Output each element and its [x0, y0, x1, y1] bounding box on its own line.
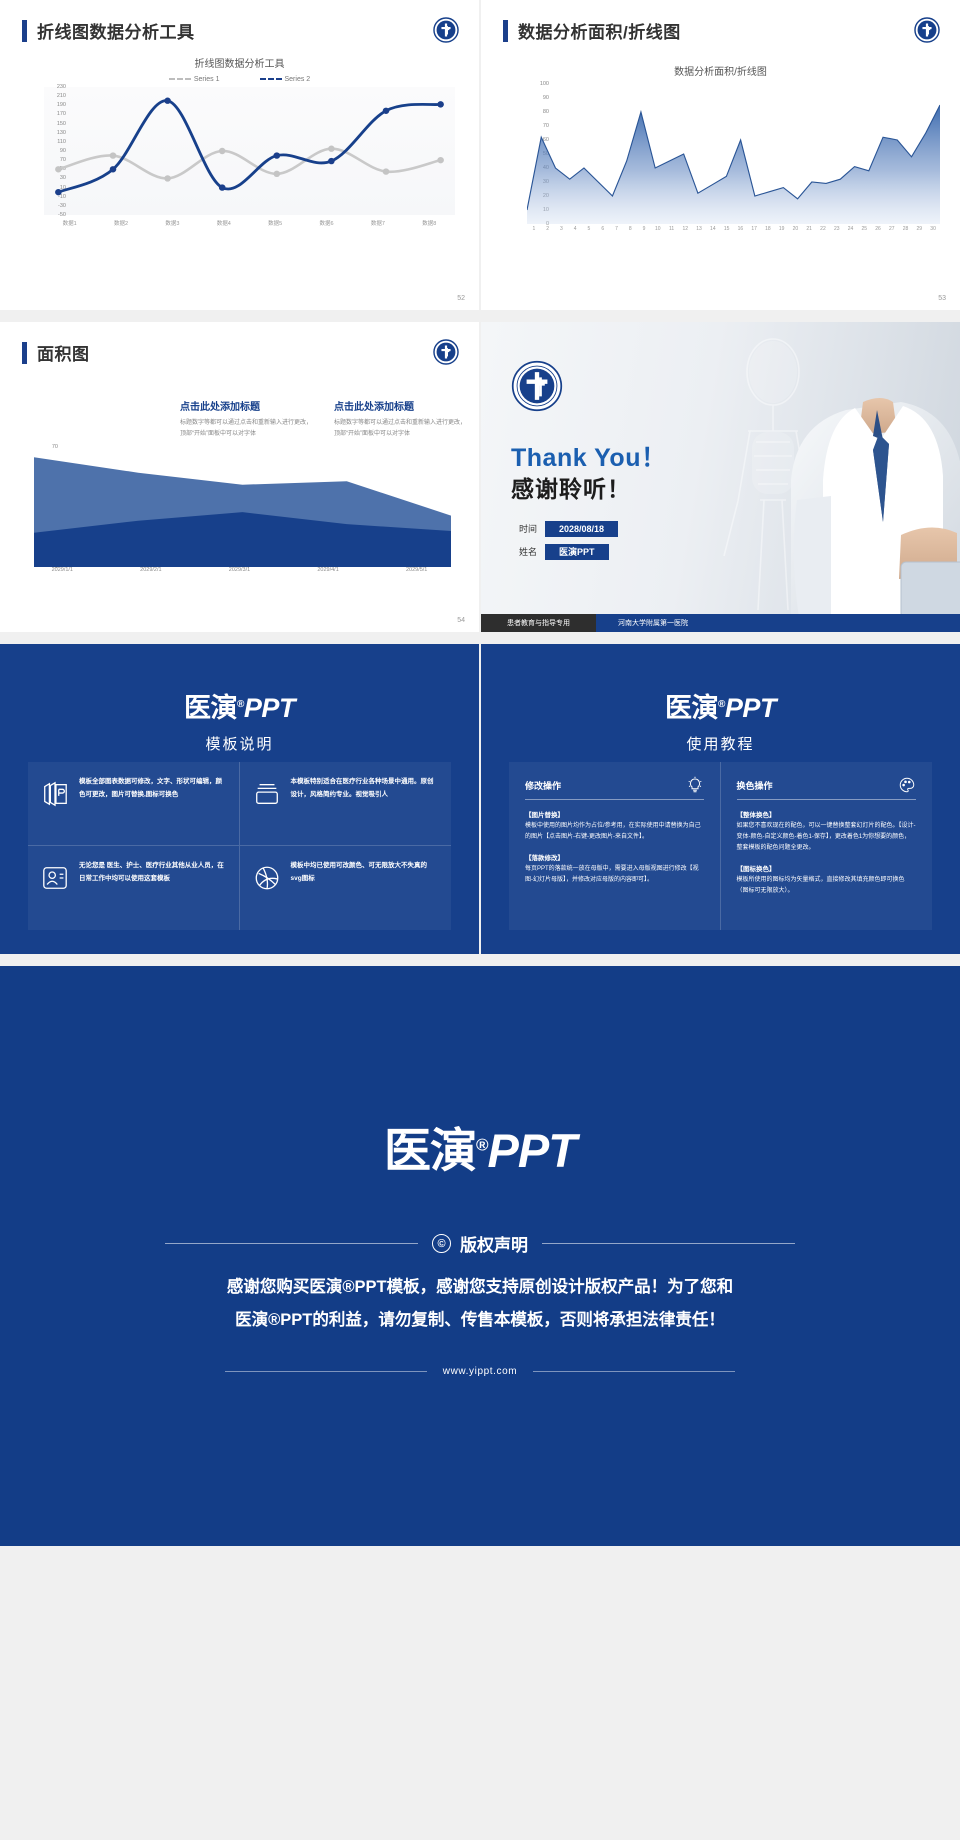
tutorial-column-header: 修改操作 [525, 776, 704, 800]
field-label: 姓名 [511, 544, 545, 560]
hospital-emblem-icon [914, 17, 940, 43]
brand-registered-mark: ® [718, 699, 725, 710]
tutorial-column-header: 换色操作 [737, 776, 917, 800]
area-chart-region: 数据分析面积/折线图 1009080706050403020100 [481, 43, 960, 232]
slide-template-info[interactable]: 医演®PPT 模板说明 模板全部图表数据可修改，文字、形状可编辑，颜色可更改，图… [0, 644, 479, 954]
x-tick-label: 17 [747, 224, 761, 232]
stacked-area-plot: 706050403020100 [34, 447, 451, 567]
chart-legend: Series 1 Series 2 [20, 76, 459, 83]
hospital-emblem-icon [433, 339, 459, 365]
data-point [328, 146, 335, 152]
box-icon [253, 780, 281, 808]
x-tick-label: 29 [912, 224, 926, 232]
hospital-emblem-icon [511, 360, 563, 412]
note-title: 点击此处添加标题 [334, 398, 470, 413]
copyright-heading-group: © 版权声明 [432, 1231, 528, 1256]
tutorial-column-title: 修改操作 [525, 779, 561, 792]
x-tick-label: 28 [899, 224, 913, 232]
info-card: 本模板特别适合在医疗行业各种场景中通用。原创设计，风格简约专业。视觉吸引人 [240, 762, 452, 846]
copyright-heading: 版权声明 [460, 1231, 528, 1256]
vector-icon [253, 864, 281, 892]
brand-lockup: 医演®PPT 使用教程 [481, 644, 960, 754]
slide-header: 折线图数据分析工具 [0, 0, 479, 43]
data-point [110, 166, 117, 172]
x-tick-label: 26 [871, 224, 885, 232]
note-body: 标题数字等都可以通过点击和重新输入进行更改，顶部“开始”面板中可以对字体 [334, 418, 470, 439]
x-tick-label: 数据6 [301, 215, 352, 227]
brand-en: PPT [488, 1124, 576, 1177]
footer-brand-logo: 医演®PPT [0, 1112, 960, 1181]
x-tick-label: 1 [527, 224, 541, 232]
doctor-photo [751, 330, 960, 630]
x-axis: 2029/1/12029/2/12029/3/12029/4/12029/5/1 [18, 567, 461, 573]
stacked-area-svg [34, 447, 451, 567]
info-card-text: 模板全部图表数据可修改，文字、形状可编辑，颜色可更改，图片可替换,图标可换色 [79, 776, 226, 801]
copyright-icon: © [432, 1234, 451, 1253]
tutorial-column-recolor: 换色操作 【整体换色】 如果您不喜欢现在的配色，可以一键替换整套幻灯片的配色。【… [721, 762, 933, 930]
tutorial-block: 【图标换色】 模板所使用的图标均为矢量格式，直接修改其填充颜色即可换色（图标可无… [737, 863, 917, 897]
divider-line-left [165, 1243, 418, 1244]
legend-item-series-2: Series 2 [260, 76, 311, 83]
copyright-line-2: 医演®PPT的利益，请勿复制、传售本模板，否则将承担法律责任！ [130, 1304, 830, 1337]
x-tick-label: 数据3 [147, 215, 198, 227]
line-chart-region: 折线图数据分析工具 Series 1 Series 2 230210190170… [0, 43, 479, 227]
data-point [110, 152, 117, 158]
area-chart-svg [527, 84, 940, 224]
data-point [219, 184, 226, 190]
legend-item-series-1: Series 1 [169, 76, 220, 83]
x-tick-label: 数据2 [95, 215, 146, 227]
x-tick-label: 8 [623, 224, 637, 232]
data-point [219, 148, 226, 154]
legend-label: Series 1 [194, 76, 220, 83]
website-url[interactable]: www.yippt.com [443, 1366, 518, 1377]
copyright-slide[interactable]: 医演®PPT © 版权声明 感谢您购买医演®PPT模板，感谢您支持原创设计版权产… [0, 966, 960, 1546]
brand-logo: 医演®PPT [0, 686, 479, 725]
slide-title: 数据分析面积/折线图 [518, 18, 681, 43]
brand-registered-mark: ® [237, 699, 244, 710]
brand-subtitle: 使用教程 [481, 733, 960, 754]
brand-zh: 医演 [665, 693, 718, 723]
page-number: 52 [457, 295, 465, 302]
info-card-grid: 模板全部图表数据可修改，文字、形状可编辑，颜色可更改，图片可替换,图标可换色 本… [28, 762, 451, 930]
slide-area-chart[interactable]: 面积图 点击此处添加标题 标题数字等都可以通过点击和重新输入进行更改，顶部“开始… [0, 322, 479, 632]
brand-en: PPT [725, 693, 776, 723]
copyright-body: 感谢您购买医演®PPT模板，感谢您支持原创设计版权产品！为了您和 医演®PPT的… [130, 1271, 830, 1337]
divider-line-right [542, 1243, 795, 1244]
x-tick-label: 7 [610, 224, 624, 232]
info-card-text: 无论您是 医生、护士、医疗行业其他从业人员，在日常工作中均可以使用这套模板 [79, 860, 226, 885]
data-point [55, 166, 62, 172]
x-tick-label: 2029/1/1 [18, 567, 107, 573]
x-tick-label: 9 [637, 224, 651, 232]
accent-bar [503, 20, 508, 42]
info-card: 模板全部图表数据可修改，文字、形状可编辑，颜色可更改，图片可替换,图标可换色 [28, 762, 240, 846]
note-title: 点击此处添加标题 [180, 398, 316, 413]
field-name: 姓名 医演PPT [511, 544, 609, 560]
data-point [437, 157, 444, 163]
legend-swatch [260, 78, 282, 80]
slide-row-3: 医演®PPT 模板说明 模板全部图表数据可修改，文字、形状可编辑，颜色可更改，图… [0, 644, 960, 954]
url-line-left [225, 1371, 427, 1372]
accent-bar [22, 20, 27, 42]
accent-bar [22, 342, 27, 364]
slide-thank-you[interactable]: Thank You！ 感谢聆听！ 时间 2028/08/18 姓名 医演PPT … [481, 322, 960, 632]
brand-zh: 医演 [384, 1124, 476, 1177]
slide-header: 数据分析面积/折线图 [481, 0, 960, 43]
data-point [383, 168, 390, 174]
x-tick-label: 数据7 [352, 215, 403, 227]
copyright-line-1: 感谢您购买医演®PPT模板，感谢您支持原创设计版权产品！为了您和 [130, 1271, 830, 1304]
tutorial-block-text: 每页PPT的落款统一放在母版中，需要进入母版视图进行修改【视图-幻灯片母版】，并… [525, 864, 704, 886]
tutorial-column-edit: 修改操作 【图片替换】 模板中使用的图片均作为占位/参考用，在实际使用中请替换为… [509, 762, 721, 930]
brand-registered-mark: ® [476, 1135, 488, 1154]
tutorial-block-heading: 【图标换色】 [737, 863, 917, 873]
x-tick-label: 20 [789, 224, 803, 232]
data-point [437, 101, 444, 107]
area-chart-plot: 1009080706050403020100 [527, 84, 940, 224]
field-value: 医演PPT [545, 544, 609, 560]
thank-you-english: Thank You！ [511, 438, 666, 474]
brand-subtitle: 模板说明 [0, 733, 479, 754]
brand-en: PPT [244, 693, 295, 723]
chart-title: 数据分析面积/折线图 [501, 63, 940, 78]
hospital-emblem-icon [433, 17, 459, 43]
footer-right-label: 河南大学附属第一医院 [596, 614, 960, 632]
x-tick-label: 14 [706, 224, 720, 232]
info-card-text: 本模板特别适合在医疗行业各种场景中通用。原创设计，风格简约专业。视觉吸引人 [291, 776, 439, 801]
tutorial-block-heading: 【整体换色】 [737, 809, 917, 819]
tutorial-block-text: 模板所使用的图标均为矢量格式，直接修改其填充颜色即可换色（图标可无限放大）。 [737, 875, 917, 897]
slide-line-chart[interactable]: 折线图数据分析工具 折线图数据分析工具 Series 1 Series 2 23… [0, 0, 479, 310]
x-tick-label: 数据8 [404, 215, 455, 227]
stacked-area-region: 706050403020100 2029/1/12029/2/12029/3/1… [8, 447, 465, 573]
brand-lockup: 医演®PPT 模板说明 [0, 644, 479, 754]
legend-label: Series 2 [285, 76, 311, 83]
field-value: 2028/08/18 [545, 521, 618, 537]
bulb-icon [686, 776, 704, 794]
x-tick-label: 2029/5/1 [372, 567, 461, 573]
x-axis: 数据1数据2数据3数据4数据5数据6数据7数据8 [44, 215, 455, 227]
data-point [164, 175, 171, 181]
info-card-text: 模板中均已使用可改颜色、可无限放大不失真的svg图标 [291, 860, 439, 885]
x-tick-label: 3 [555, 224, 569, 232]
line-chart-svg [44, 87, 455, 215]
palette-icon [898, 776, 916, 794]
x-tick-label: 4 [568, 224, 582, 232]
info-card: 模板中均已使用可改颜色、可无限放大不失真的svg图标 [240, 846, 452, 930]
copyright-divider: © 版权声明 [165, 1231, 795, 1256]
note-block: 点击此处添加标题 标题数字等都可以通过点击和重新输入进行更改，顶部“开始”面板中… [334, 398, 470, 439]
x-tick-label: 19 [775, 224, 789, 232]
footer-left-label: 患者教育与指导专用 [481, 614, 596, 632]
field-date: 时间 2028/08/18 [511, 521, 618, 537]
x-tick-label: 16 [733, 224, 747, 232]
data-point [164, 98, 171, 104]
page-number: 53 [938, 295, 946, 302]
line-chart-plot: 2302101901701501301109070503010-10-30-50 [44, 87, 455, 215]
info-card: 无论您是 医生、护士、医疗行业其他从业人员，在日常工作中均可以使用这套模板 [28, 846, 240, 930]
tutorial-block: 【图片替换】 模板中使用的图片均作为占位/参考用，在实际使用中请替换为自己的图片… [525, 809, 704, 843]
slide-tutorial[interactable]: 医演®PPT 使用教程 修改操作 [481, 644, 960, 954]
note-block: 点击此处添加标题 标题数字等都可以通过点击和重新输入进行更改，顶部“开始”面板中… [180, 398, 316, 439]
tutorial-block-heading: 【图片替换】 [525, 809, 704, 819]
row-gap [0, 632, 960, 644]
note-body: 标题数字等都可以通过点击和重新输入进行更改，顶部“开始”面板中可以对字体 [180, 418, 316, 439]
slide-area-line-chart[interactable]: 数据分析面积/折线图 数据分析面积/折线图 100908070605040302… [481, 0, 960, 310]
data-point [274, 152, 281, 158]
x-tick-label: 2029/4/1 [284, 567, 373, 573]
tutorial-block-text: 如果您不喜欢现在的配色，可以一键替换整套幻灯片的配色。【设计-变体-颜色-自定义… [737, 821, 917, 854]
x-tick-label: 12 [678, 224, 692, 232]
brand-zh: 医演 [184, 693, 237, 723]
x-tick-label: 25 [857, 224, 871, 232]
tutorial-block: 【整体换色】 如果您不喜欢现在的配色，可以一键替换整套幻灯片的配色。【设计-变体… [737, 809, 917, 854]
tutorial-block: 【落款修改】 每页PPT的落款统一放在母版中，需要进入母版视图进行修改【视图-幻… [525, 852, 704, 886]
website-row: www.yippt.com [225, 1366, 735, 1377]
x-tick-label: 10 [651, 224, 665, 232]
tutorial-block-heading: 【落款修改】 [525, 852, 704, 862]
slide-row-1: 折线图数据分析工具 折线图数据分析工具 Series 1 Series 2 23… [0, 0, 960, 310]
data-point [274, 171, 281, 177]
slide-header: 面积图 [0, 322, 479, 365]
data-point [55, 189, 62, 195]
slide-title: 折线图数据分析工具 [37, 18, 195, 43]
x-tick-label: 数据4 [198, 215, 249, 227]
x-axis: 1234567891011121314151617181920212223242… [527, 224, 940, 232]
brand-logo: 医演®PPT [481, 686, 960, 725]
tutorial-block-text: 模板中使用的图片均作为占位/参考用，在实际使用中请替换为自己的图片【点击图片-右… [525, 821, 704, 843]
x-tick-label: 15 [720, 224, 734, 232]
row-gap [0, 954, 960, 966]
slide-row-2: 面积图 点击此处添加标题 标题数字等都可以通过点击和重新输入进行更改，顶部“开始… [0, 322, 960, 632]
presentation-thumbnail-page: 折线图数据分析工具 折线图数据分析工具 Series 1 Series 2 23… [0, 0, 960, 1840]
x-tick-label: 22 [816, 224, 830, 232]
x-tick-label: 11 [665, 224, 679, 232]
note-columns: 点击此处添加标题 标题数字等都可以通过点击和重新输入进行更改，顶部“开始”面板中… [180, 398, 470, 439]
url-line-right [533, 1371, 735, 1372]
page-number: 54 [457, 617, 465, 624]
x-tick-label: 18 [761, 224, 775, 232]
slide-footer-bar: 患者教育与指导专用 河南大学附属第一医院 [481, 614, 960, 632]
users-icon [41, 864, 69, 892]
tutorial-column-title: 换色操作 [737, 779, 773, 792]
row-gap [0, 310, 960, 322]
x-tick-label: 21 [802, 224, 816, 232]
x-tick-label: 24 [844, 224, 858, 232]
x-tick-label: 30 [926, 224, 940, 232]
x-tick-label: 数据5 [250, 215, 301, 227]
data-point [328, 158, 335, 164]
x-tick-label: 2029/2/1 [107, 567, 196, 573]
field-label: 时间 [511, 521, 545, 537]
x-tick-label: 27 [885, 224, 899, 232]
x-tick-label: 6 [596, 224, 610, 232]
slide-title: 面积图 [37, 340, 90, 365]
chart-title: 折线图数据分析工具 [20, 55, 459, 70]
data-point [383, 108, 390, 114]
x-tick-label: 5 [582, 224, 596, 232]
x-tick-label: 23 [830, 224, 844, 232]
tutorial-grid: 修改操作 【图片替换】 模板中使用的图片均作为占位/参考用，在实际使用中请替换为… [509, 762, 932, 930]
x-tick-label: 13 [692, 224, 706, 232]
x-tick-label: 数据1 [44, 215, 95, 227]
thank-you-chinese: 感谢聆听！ [511, 470, 631, 504]
slides-icon [41, 780, 69, 808]
legend-swatch [169, 78, 191, 80]
x-tick-label: 2029/3/1 [195, 567, 284, 573]
